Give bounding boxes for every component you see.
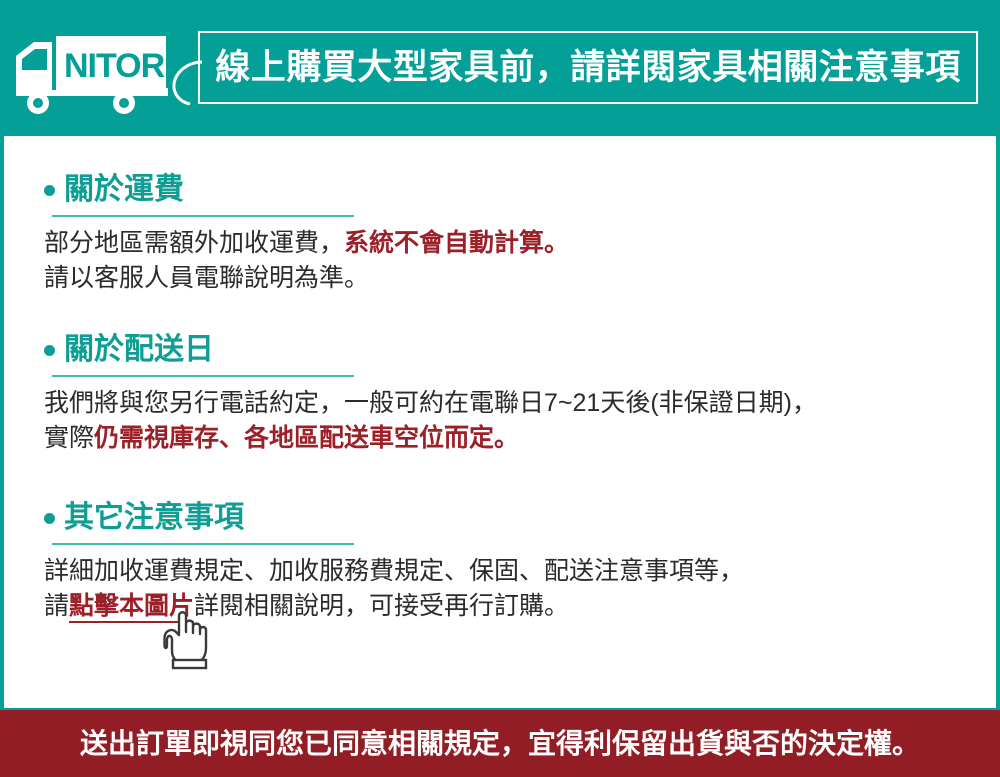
text-run: 我們將與您另行電話約定，一般可約在電聯日7~21天後(非保證日期)， [44,389,817,417]
text-line: 請點擊本圖片詳閱相關說明，可接受再行訂購。 [44,589,744,624]
bullet-dot-icon [44,513,55,524]
nitori-furniture-notice-banner: NITORI 線上購買大型家具前，請詳閱家具相關注意事項 [0,0,1000,777]
pointing-hand-cursor-icon [159,604,215,670]
bullet-dot-icon [44,345,55,356]
text-line: 實際仍需視庫存、各地區配送車空位而定。 [44,421,817,456]
section-shipping-title: 關於運費 [64,175,184,205]
text-line: 詳細加收運費規定、加收服務費規定、保固、配送注意事項等， [44,554,744,589]
page-title: 線上購買大型家具前，請詳閱家具相關注意事項 [215,50,961,85]
section-other-body: 詳細加收運費規定、加收服務費規定、保固、配送注意事項等， 請點擊本圖片詳閱相關說… [44,554,744,623]
text-run: 詳閱相關說明，可接受再行訂購。 [194,592,569,620]
footer-disclaimer-text: 送出訂單即視同您已同意相關規定，宜得利保留出貨與否的決定權。 [80,730,920,758]
nitori-wordmark: NITORI [64,47,173,85]
text-run: 詳細加收運費規定、加收服務費規定、保固、配送注意事項等， [44,557,744,585]
section-other-divider [52,543,354,545]
section-shipping-header: 關於運費 [44,170,569,210]
emphasis-text: 仍需視庫存、各地區配送車空位而定。 [94,424,519,452]
section-delivery-body: 我們將與您另行電話約定，一般可約在電聯日7~21天後(非保證日期)， 實際仍需視… [44,386,817,455]
text-run: 請以客服人員電聯說明為準。 [44,264,369,292]
section-delivery-header: 關於配送日 [44,330,817,370]
nitori-truck-logo: NITORI [14,32,194,118]
banner-header: NITORI 線上購買大型家具前，請詳閱家具相關注意事項 [0,0,1000,136]
text-line: 請以客服人員電聯說明為準。 [44,261,569,296]
section-delivery-divider [52,375,354,377]
text-run: 部分地區需額外加收運費， [44,229,344,257]
section-delivery-title: 關於配送日 [64,335,214,365]
text-line: 部分地區需額外加收運費，系統不會自動計算。 [44,226,569,261]
emphasis-text: 系統不會自動計算。 [344,229,569,257]
section-shipping-divider [52,215,354,217]
section-other-header: 其它注意事項 [44,498,744,538]
header-title-box: 線上購買大型家具前，請詳閱家具相關注意事項 [198,31,978,104]
section-other-title: 其它注意事項 [64,503,244,533]
banner-footer: 送出訂單即視同您已同意相關規定，宜得利保留出貨與否的決定權。 [0,710,1000,777]
notice-content-panel: 關於運費 部分地區需額外加收運費，系統不會自動計算。 請以客服人員電聯說明為準。… [4,136,996,708]
text-run: 實際 [44,424,94,452]
section-delivery: 關於配送日 我們將與您另行電話約定，一般可約在電聯日7~21天後(非保證日期)，… [44,330,817,455]
text-line: 我們將與您另行電話約定，一般可約在電聯日7~21天後(非保證日期)， [44,386,817,421]
section-shipping-body: 部分地區需額外加收運費，系統不會自動計算。 請以客服人員電聯說明為準。 [44,226,569,295]
section-shipping: 關於運費 部分地區需額外加收運費，系統不會自動計算。 請以客服人員電聯說明為準。 [44,170,569,295]
text-run: 請 [44,592,69,620]
section-other: 其它注意事項 詳細加收運費規定、加收服務費規定、保固、配送注意事項等， 請點擊本… [44,498,744,623]
bullet-dot-icon [44,185,55,196]
